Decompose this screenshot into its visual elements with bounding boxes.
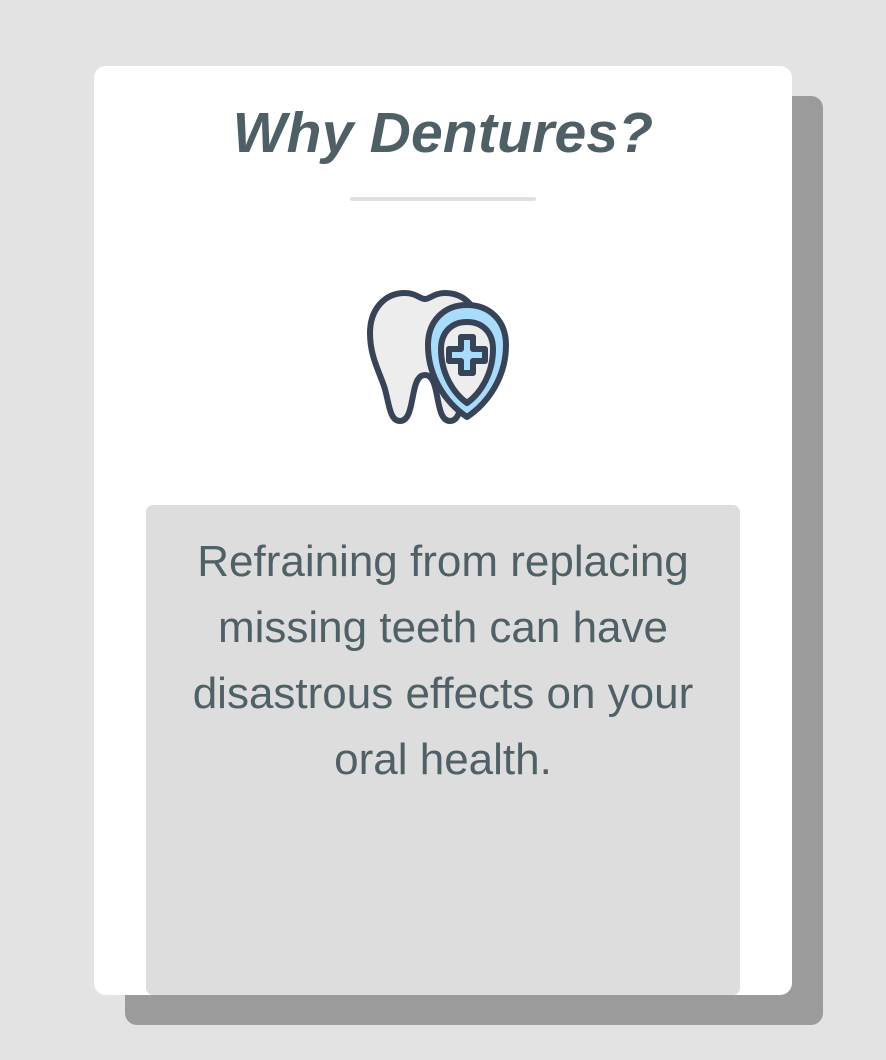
message-text: Refraining from replacing missing teeth … [166,529,720,793]
slide-stage: Why Dentures? Refraining from replacing … [0,0,886,1060]
page-title: Why Dentures? [94,98,792,168]
tooth-shield-plus-icon-svg [362,281,524,431]
info-card: Why Dentures? Refraining from replacing … [94,66,792,995]
message-panel: Refraining from replacing missing teeth … [146,505,740,995]
title-divider [350,197,536,201]
tooth-shield-plus-icon [94,271,792,441]
